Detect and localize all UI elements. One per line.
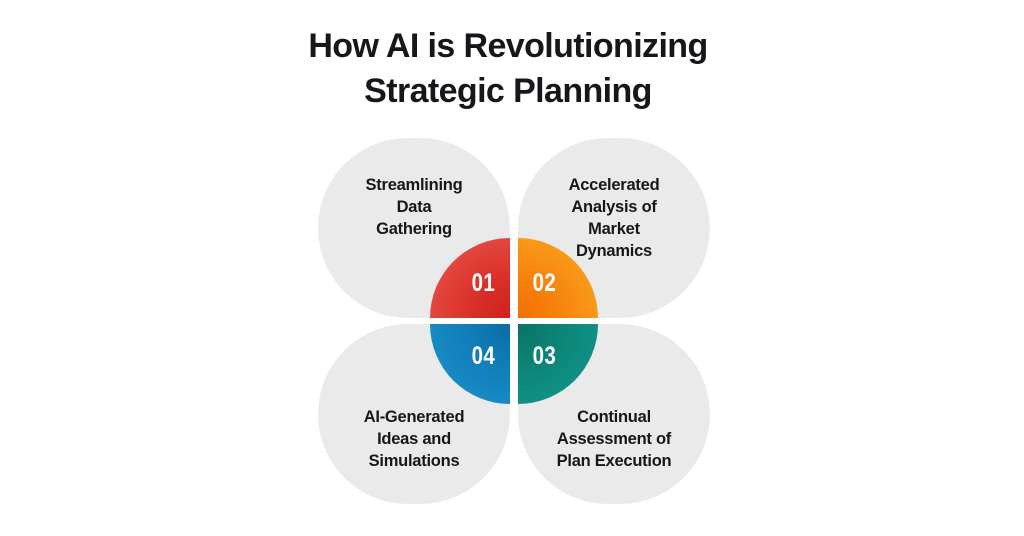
quadrant-02[interactable]: Accelerated Analysis of Market Dynamics … <box>518 138 710 318</box>
quadrant-03-label-line-3: Plan Execution <box>530 450 698 472</box>
quadrant-01-label: Streamlining Data Gathering <box>330 174 498 240</box>
quadrant-01-label-line-1: Streamlining <box>330 174 498 196</box>
quadrant-04-label-line-3: Simulations <box>330 450 498 472</box>
quadrant-04[interactable]: AI-Generated Ideas and Simulations 04 <box>318 324 510 504</box>
quadrant-03-number: 03 <box>533 342 557 371</box>
quadrant-01-number: 01 <box>472 269 496 298</box>
quadrant-diagram: Streamlining Data Gathering 01 Accelerat… <box>318 138 710 504</box>
quadrant-04-label: AI-Generated Ideas and Simulations <box>330 406 498 472</box>
quadrant-03-label: Continual Assessment of Plan Execution <box>530 406 698 472</box>
quadrant-03[interactable]: Continual Assessment of Plan Execution 0… <box>518 324 710 504</box>
quadrant-03-label-line-2: Assessment of <box>530 428 698 450</box>
page-title-line-1: How AI is Revolutionizing <box>0 24 1016 69</box>
quadrant-02-label-line-3: Market <box>530 218 698 240</box>
quadrant-04-label-line-1: AI-Generated <box>330 406 498 428</box>
quadrant-04-label-line-2: Ideas and <box>330 428 498 450</box>
page-title-line-2: Strategic Planning <box>0 69 1016 114</box>
infographic-canvas: How AI is Revolutionizing Strategic Plan… <box>0 0 1024 536</box>
quadrant-02-label-line-2: Analysis of <box>530 196 698 218</box>
quadrant-01[interactable]: Streamlining Data Gathering 01 <box>318 138 510 318</box>
quadrant-04-number: 04 <box>472 342 496 371</box>
quadrant-02-label-line-1: Accelerated <box>530 174 698 196</box>
quadrant-01-label-line-3: Gathering <box>330 218 498 240</box>
quadrant-01-label-line-2: Data <box>330 196 498 218</box>
page-title: How AI is Revolutionizing Strategic Plan… <box>0 24 1016 114</box>
quadrant-03-label-line-1: Continual <box>530 406 698 428</box>
quadrant-02-number: 02 <box>533 269 557 298</box>
